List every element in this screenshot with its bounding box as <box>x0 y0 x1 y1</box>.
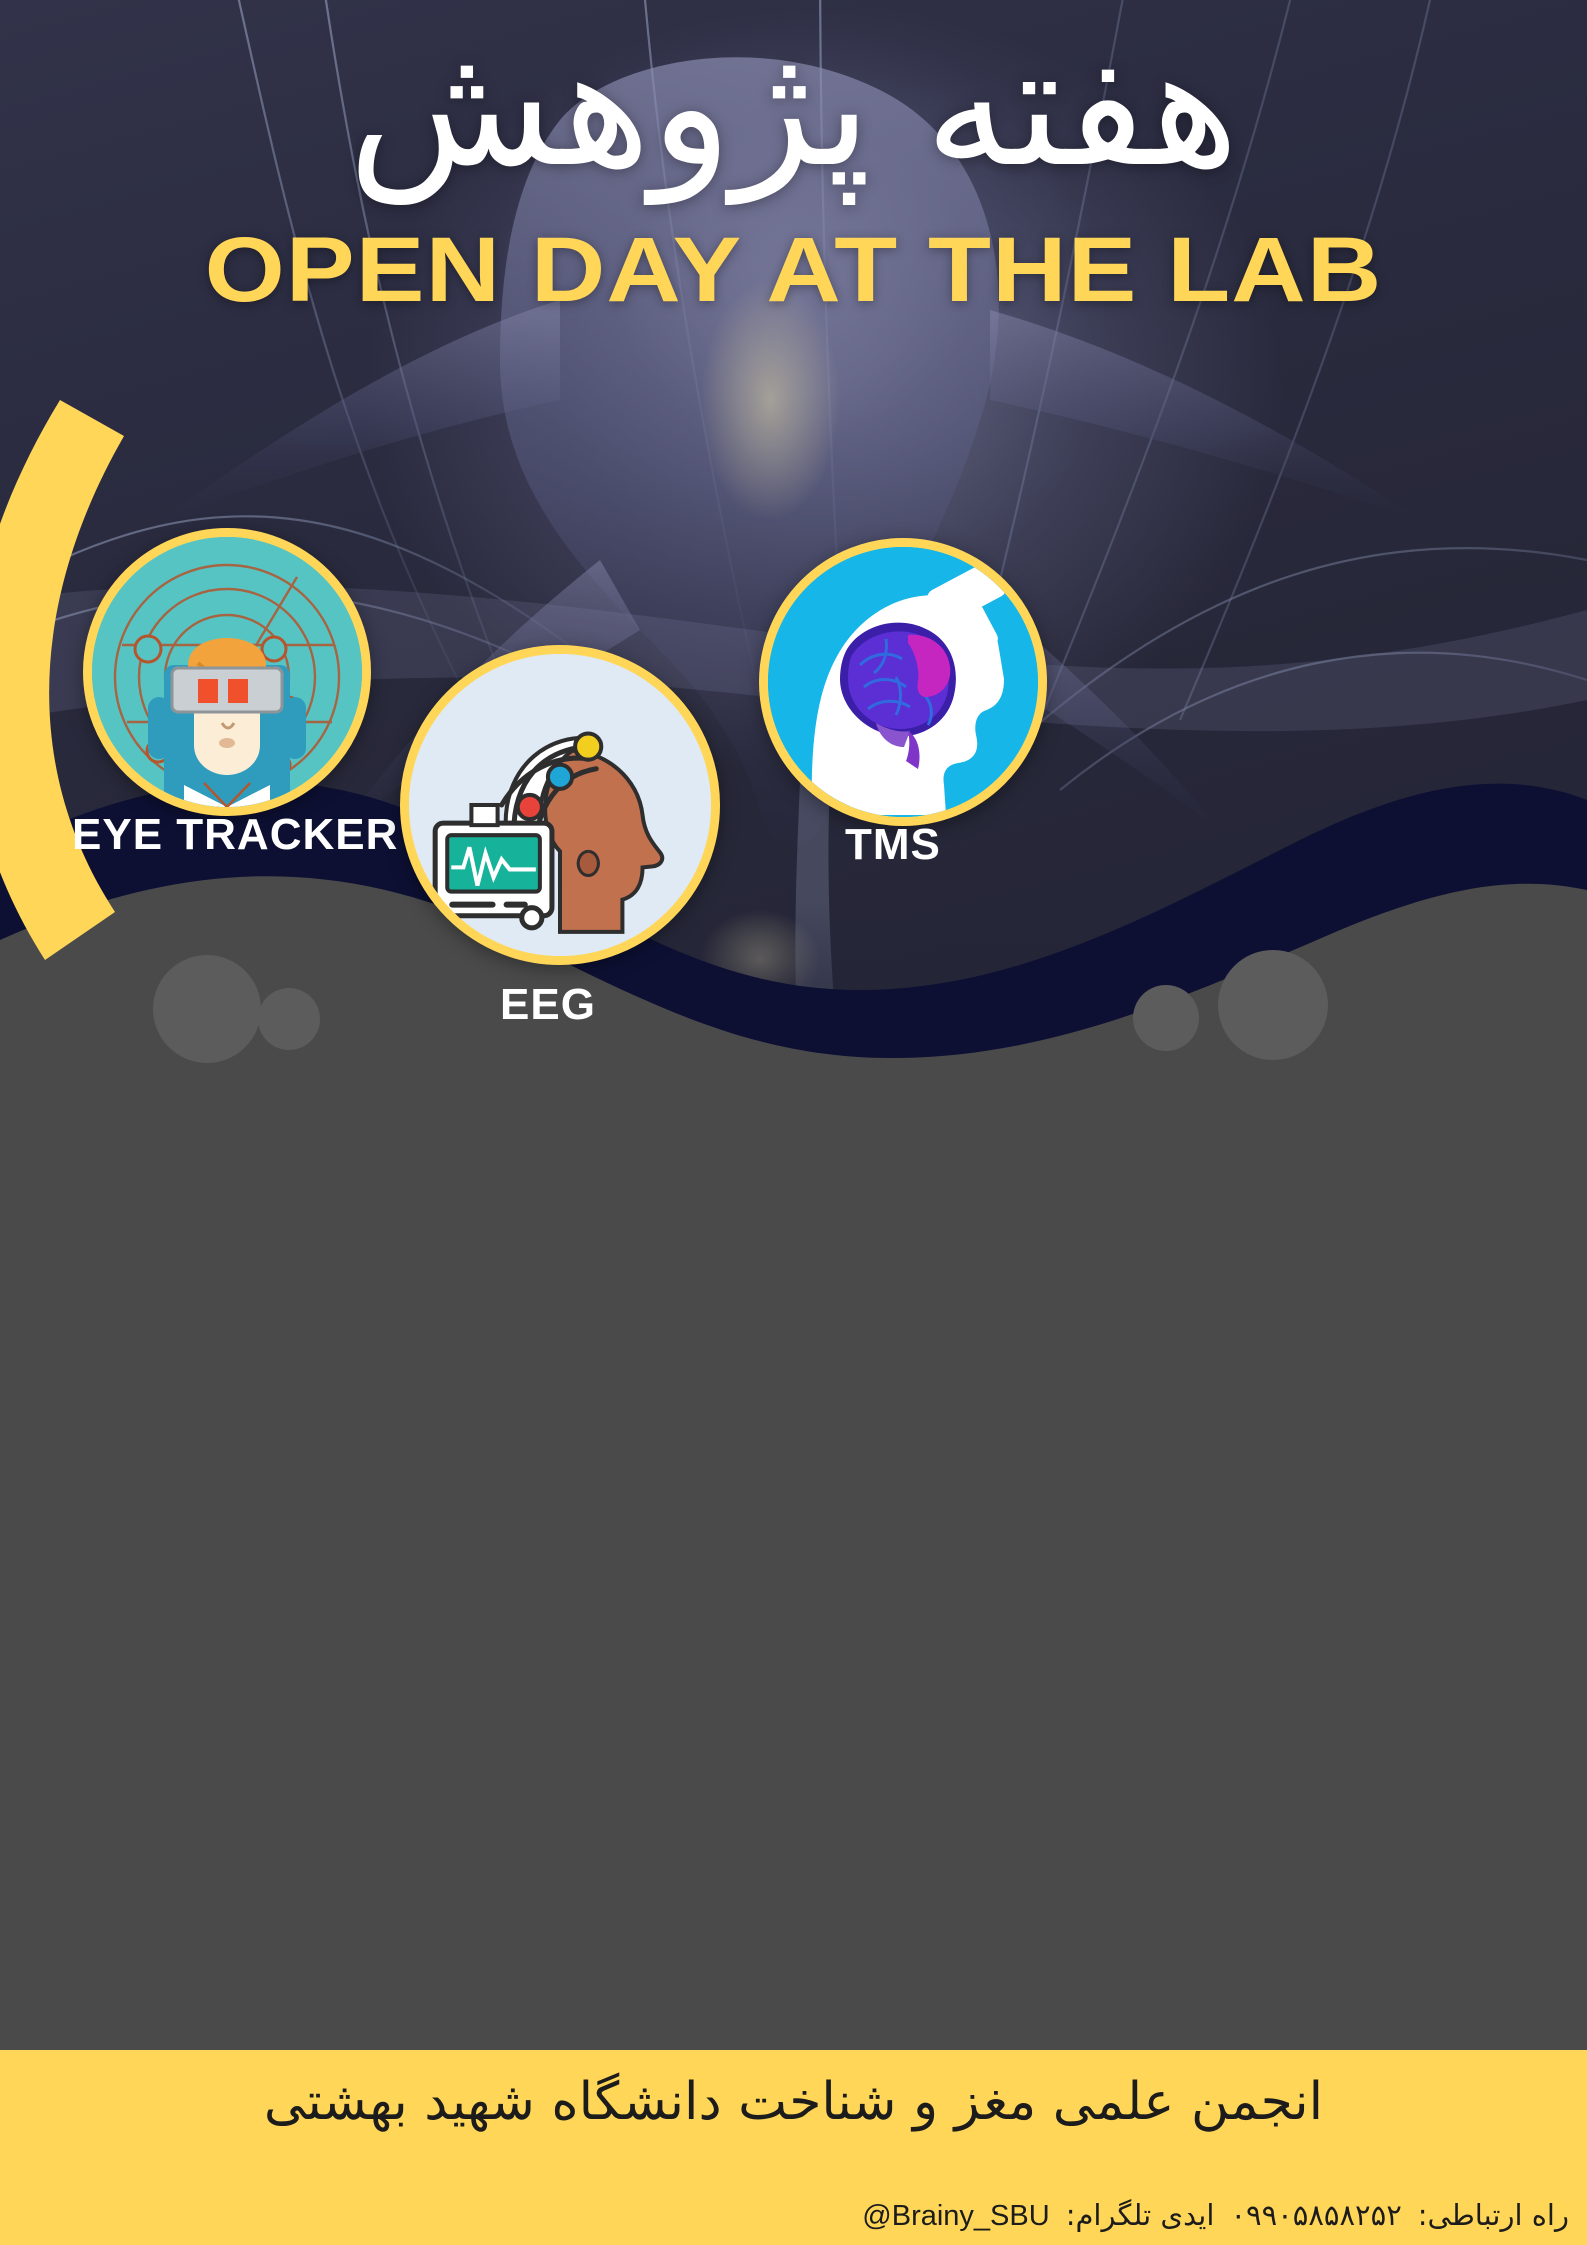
eye-tracker-label: EYE TRACKER <box>72 810 398 860</box>
poster-root: هفته پژوهش OPEN DAY AT THE LAB <box>0 0 1587 2245</box>
decor-bubble-4 <box>1218 950 1328 1060</box>
tms-illustration <box>768 547 1038 817</box>
eeg-icon[interactable] <box>400 645 720 965</box>
decor-bubble-2 <box>258 988 320 1050</box>
contact-details: راه ارتباطی: ۰۹۹۰۵۸۵۸۲۵۲ ایدی تلگرام: @B… <box>862 2198 1569 2233</box>
telegram-handle[interactable]: @Brainy_SBU <box>862 2200 1049 2233</box>
contact-phone: ۰۹۹۰۵۸۵۸۲۵۲ <box>1230 2198 1401 2232</box>
contact-prefix: راه ارتباطی: <box>1418 2198 1569 2232</box>
decor-bubble-1 <box>153 955 261 1063</box>
eye-tracker-icon[interactable] <box>83 528 371 816</box>
association-name: انجمن علمی مغز و شناخت دانشگاه شهید بهشت… <box>264 2072 1323 2132</box>
decor-bubble-3 <box>1133 985 1199 1051</box>
info-section: شنبه ۱۸ آذر ۱۴۰۲ ساعت ۹ الی ۱۲ مکان : پژ… <box>0 1100 1587 2040</box>
eeg-label: EEG <box>500 980 596 1030</box>
tms-label: TMS <box>845 820 941 870</box>
eeg-electrode-yellow <box>575 734 601 760</box>
tms-icon[interactable] <box>759 538 1047 826</box>
association-banner: انجمن علمی مغز و شناخت دانشگاه شهید بهشت… <box>0 2050 1587 2153</box>
eeg-electrode-red <box>518 795 542 819</box>
contact-bar: راه ارتباطی: ۰۹۹۰۵۸۵۸۲۵۲ ایدی تلگرام: @B… <box>0 2153 1587 2245</box>
eeg-electrode-blue <box>548 765 572 789</box>
page-title-english: OPEN DAY AT THE LAB <box>0 218 1587 323</box>
telegram-label: ایدی تلگرام: <box>1066 2198 1215 2232</box>
eye-tracker-illustration <box>92 537 362 807</box>
page-title-persian: هفته پژوهش <box>0 18 1587 194</box>
eeg-illustration <box>409 654 711 956</box>
